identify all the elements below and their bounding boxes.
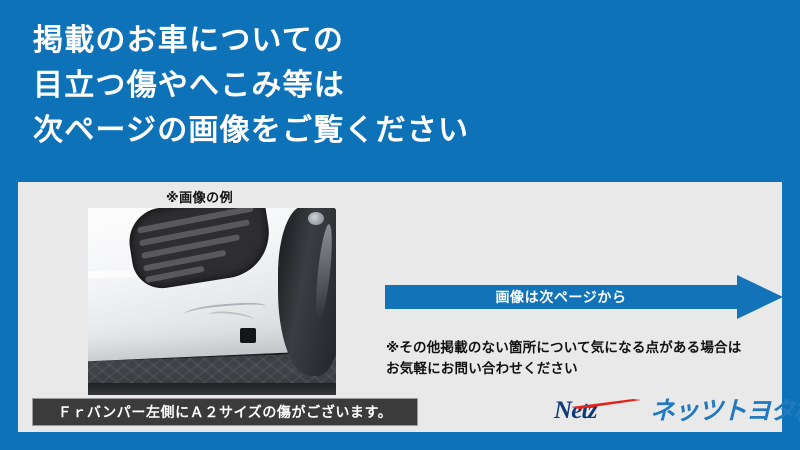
next-page-arrow: 画像は次ページから [385, 275, 783, 319]
additional-note: ※その他掲載のない箇所について気になる点がある場合は お気軽にお問い合わせくださ… [386, 337, 786, 379]
netz-brand-mark: Netz [554, 396, 646, 426]
dealer-logo: Netz ネッツトヨタ栃木 [554, 394, 784, 428]
next-page-arrow-label: 画像は次ページから [385, 287, 737, 307]
photo-floor-lip [88, 383, 336, 395]
photo-lens-flare [308, 212, 324, 225]
additional-note-line-2: お気軽にお問い合わせください [386, 358, 786, 379]
dealer-name-label: ネッツトヨタ栃木 [650, 396, 800, 426]
header-line-1: 掲載のお車についての [33, 18, 800, 63]
additional-note-line-1: ※その他掲載のない箇所について気になる点がある場合は [386, 337, 786, 358]
netz-swoosh-icon [571, 399, 641, 409]
slide-root: 掲載のお車についての 目立つ傷やへこみ等は 次ページの画像をご覧ください ※画像… [0, 0, 800, 450]
content-panel: ※画像の例 Ｆｒバンパー左 [18, 182, 782, 432]
header-banner: 掲載のお車についての 目立つ傷やへこみ等は 次ページの画像をご覧ください [0, 0, 800, 176]
photo-caption-bar: Ｆｒバンパー左側にＡ２サイズの傷がございます。 [32, 398, 418, 426]
photo-example-label: ※画像の例 [166, 187, 233, 206]
header-line-3: 次ページの画像をご覧ください [33, 108, 800, 153]
example-damage-photo [88, 208, 336, 395]
photo-caption-text: Ｆｒバンパー左側にＡ２サイズの傷がございます。 [58, 402, 393, 422]
photo-wheel-chock [240, 328, 256, 343]
header-line-2: 目立つ傷やへこみ等は [33, 63, 800, 108]
